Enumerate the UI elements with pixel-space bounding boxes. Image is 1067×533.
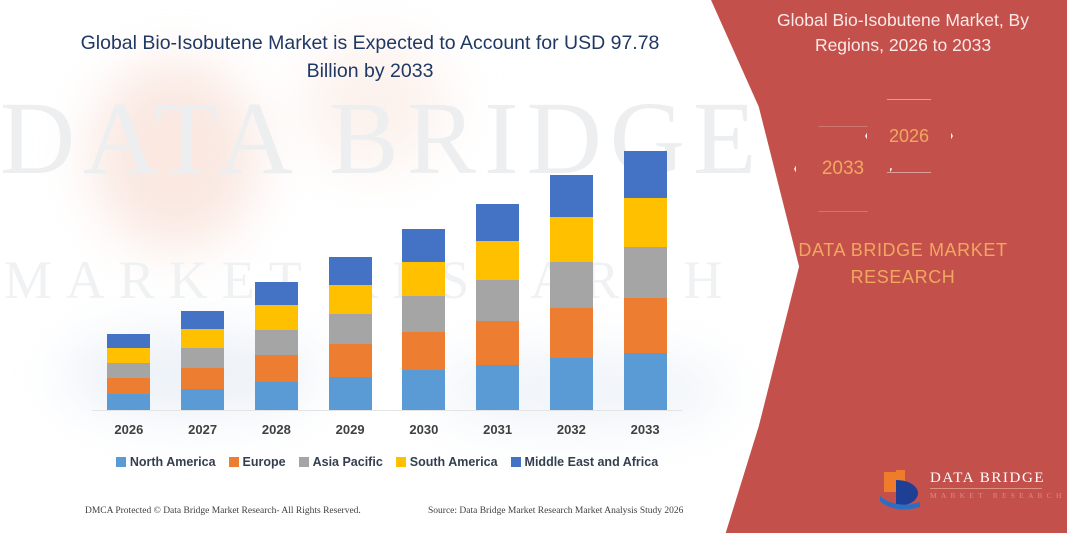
- bar-segment-south-america: [255, 305, 298, 329]
- bar-segment-europe: [255, 355, 298, 382]
- bar-segment-middle-east-and-africa: [255, 282, 298, 305]
- bar-segment-europe: [402, 332, 445, 370]
- bar-column-2033: [609, 110, 682, 411]
- footer-copyright: DMCA Protected © Data Bridge Market Rese…: [85, 506, 361, 516]
- bar-segment-asia-pacific: [181, 348, 224, 368]
- bar-segment-asia-pacific: [107, 363, 150, 378]
- x-axis-tick-2027: 2027: [166, 422, 239, 437]
- stacked-bar: [476, 204, 519, 411]
- bar-segment-middle-east-and-africa: [550, 175, 593, 217]
- bar-segment-asia-pacific: [255, 330, 298, 355]
- stacked-bar: [624, 151, 667, 411]
- logo-divider: [930, 488, 1042, 489]
- bar-column-2026: [92, 110, 165, 411]
- footer-source: Source: Data Bridge Market Research Mark…: [428, 506, 683, 516]
- infographic-canvas: DATA BRIDGE MARKET RESEARCH Global Bio-I…: [0, 0, 1067, 533]
- bar-segment-middle-east-and-africa: [181, 311, 224, 329]
- bar-segment-north-america: [624, 353, 667, 411]
- chart-legend: North AmericaEuropeAsia PacificSouth Ame…: [92, 455, 682, 469]
- bar-segment-south-america: [107, 348, 150, 363]
- panel-title: Global Bio-Isobutene Market, By Regions,…: [753, 8, 1053, 59]
- bar-segment-north-america: [402, 370, 445, 411]
- brand-name: DATA BRIDGE MARKET RESEARCH: [753, 237, 1053, 291]
- x-axis-labels: 20262027202820292030203120322033: [92, 422, 682, 437]
- legend-item-europe[interactable]: Europe: [229, 455, 286, 469]
- x-axis-tick-2033: 2033: [609, 422, 682, 437]
- bar-segment-middle-east-and-africa: [476, 204, 519, 241]
- x-axis-tick-2031: 2031: [461, 422, 534, 437]
- legend-item-middle-east-and-africa[interactable]: Middle East and Africa: [511, 455, 659, 469]
- legend-item-south-america[interactable]: South America: [396, 455, 498, 469]
- stacked-bar: [181, 311, 224, 411]
- legend-label: South America: [410, 455, 498, 469]
- legend-item-asia-pacific[interactable]: Asia Pacific: [299, 455, 383, 469]
- hexagon-label: 2026: [889, 126, 929, 147]
- logo-name: DATA BRIDGE: [930, 470, 1045, 487]
- bar-segment-south-america: [329, 285, 372, 314]
- stacked-bar: [550, 175, 593, 411]
- x-axis-tick-2026: 2026: [92, 422, 165, 437]
- hexagon-label: 2033: [822, 158, 864, 180]
- x-axis-line: [92, 410, 682, 411]
- bar-segment-asia-pacific: [329, 314, 372, 344]
- chart-plot-area: [92, 110, 682, 411]
- stacked-bar: [255, 282, 298, 411]
- legend-label: Europe: [243, 455, 286, 469]
- bar-column-2027: [166, 110, 239, 411]
- bar-segment-europe: [476, 321, 519, 365]
- legend-label: Middle East and Africa: [525, 455, 659, 469]
- legend-swatch-icon: [396, 457, 406, 467]
- legend-swatch-icon: [511, 457, 521, 467]
- bar-column-2031: [461, 110, 534, 411]
- bar-column-2028: [240, 110, 313, 411]
- bar-segment-middle-east-and-africa: [107, 334, 150, 348]
- legend-swatch-icon: [116, 457, 126, 467]
- stacked-bar: [107, 334, 150, 411]
- stacked-bar: [402, 229, 445, 411]
- x-axis-tick-2028: 2028: [240, 422, 313, 437]
- legend-label: North America: [130, 455, 216, 469]
- bar-segment-south-america: [181, 329, 224, 348]
- bar-segment-north-america: [107, 394, 150, 411]
- data-bridge-logo: DATA BRIDGE MARKET RESEARCH: [878, 466, 1058, 514]
- bar-segment-asia-pacific: [550, 262, 593, 308]
- bar-segment-south-america: [624, 198, 667, 247]
- bar-segment-north-america: [181, 389, 224, 411]
- bar-column-2029: [314, 110, 387, 411]
- bar-segment-north-america: [476, 365, 519, 411]
- bar-segment-north-america: [550, 358, 593, 411]
- legend-swatch-icon: [229, 457, 239, 467]
- x-axis-tick-2032: 2032: [535, 422, 608, 437]
- right-red-panel: Global Bio-Isobutene Market, By Regions,…: [700, 0, 1067, 533]
- logo-tagline: MARKET RESEARCH: [930, 491, 1066, 500]
- bar-segment-north-america: [329, 377, 372, 411]
- bar-column-2032: [535, 110, 608, 411]
- x-axis-tick-2029: 2029: [314, 422, 387, 437]
- bar-segment-asia-pacific: [476, 280, 519, 321]
- stacked-bar: [329, 257, 372, 411]
- chart-title: Global Bio-Isobutene Market is Expected …: [70, 30, 670, 85]
- bar-segment-south-america: [476, 241, 519, 280]
- bar-segment-north-america: [255, 382, 298, 411]
- hexagon-group: 2033 2026: [700, 95, 1067, 205]
- bar-column-2030: [387, 110, 460, 411]
- bar-segment-south-america: [402, 262, 445, 296]
- bar-segment-asia-pacific: [402, 296, 445, 332]
- bar-segment-middle-east-and-africa: [624, 151, 667, 198]
- x-axis-tick-2030: 2030: [387, 422, 460, 437]
- bar-segment-europe: [181, 368, 224, 389]
- legend-label: Asia Pacific: [313, 455, 383, 469]
- bar-segment-europe: [329, 344, 372, 376]
- bar-segment-middle-east-and-africa: [402, 229, 445, 262]
- bar-segment-europe: [550, 308, 593, 358]
- legend-swatch-icon: [299, 457, 309, 467]
- bar-segment-asia-pacific: [624, 247, 667, 298]
- bar-segment-europe: [624, 298, 667, 353]
- bar-segment-middle-east-and-africa: [329, 257, 372, 285]
- bar-segment-europe: [107, 378, 150, 394]
- stacked-bar-group: [92, 110, 682, 411]
- logo-mark-icon: [878, 466, 928, 512]
- bar-segment-south-america: [550, 217, 593, 261]
- legend-item-north-america[interactable]: North America: [116, 455, 216, 469]
